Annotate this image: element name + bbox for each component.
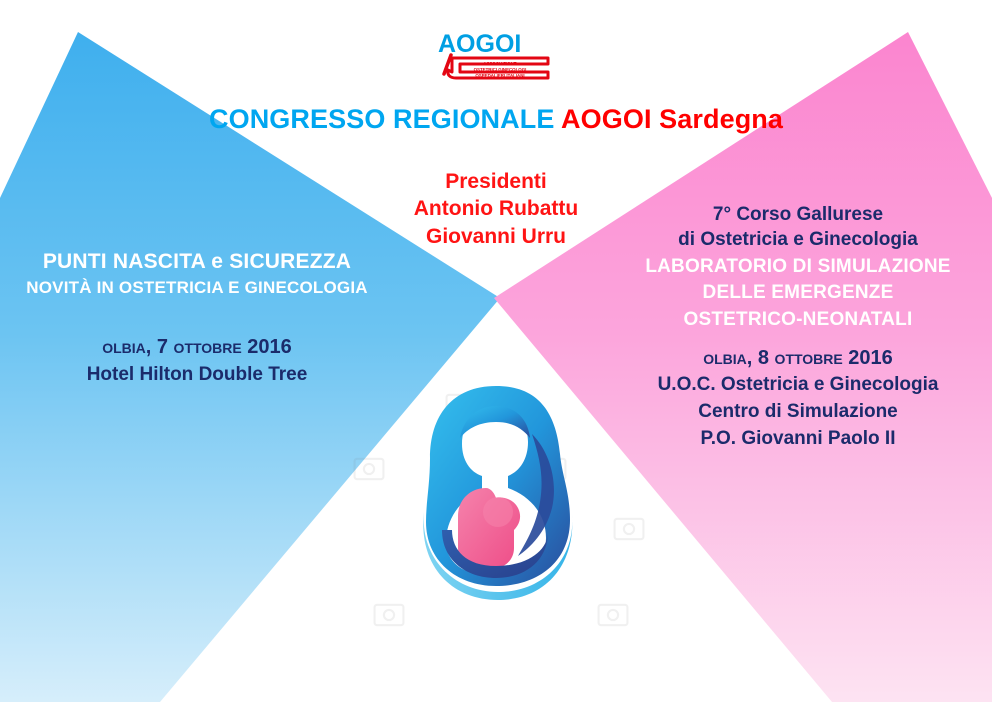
right-panel-heading-line2: di Ostetricia e Ginecologia xyxy=(604,227,992,252)
left-panel-title: PUNTI NASCITA e SICUREZZA xyxy=(8,250,386,275)
left-panel-headings: PUNTI NASCITA e SICUREZZA NOVITÀ IN OSTE… xyxy=(8,250,386,298)
left-panel-subtitle: NOVITÀ IN OSTETRICIA E GINECOLOGIA xyxy=(8,278,386,298)
logo-wordmark: AOGOI xyxy=(438,30,521,58)
left-panel-date: Olbia, 7 ottobre 2016 xyxy=(8,334,386,362)
title-part-congresso: CONGRESSO REGIONALE xyxy=(209,104,561,134)
logo-subtitle-line2: OSTETRICI GINECOLOGI xyxy=(474,67,527,72)
mother-and-child-icon xyxy=(390,372,606,604)
right-panel-emphasis-line1: LABORATORIO DI SIMULAZIONE xyxy=(604,254,992,280)
right-panel-headings: 7° Corso Gallurese di Ostetricia e Ginec… xyxy=(604,202,992,333)
page-title: CONGRESSO REGIONALE AOGOI Sardegna xyxy=(0,104,992,135)
right-panel-venue-line1: U.O.C. Ostetricia e Ginecologia xyxy=(604,372,992,399)
right-panel-emphasis-line2: DELLE EMERGENZE xyxy=(604,280,992,306)
presidents-heading: Presidenti xyxy=(0,168,992,195)
right-panel-details: Olbia, 8 ottobre 2016 U.O.C. Ostetricia … xyxy=(604,344,992,453)
left-panel-details: Olbia, 7 ottobre 2016 Hotel Hilton Doubl… xyxy=(8,334,386,388)
right-panel-emphasis-line3: OSTETRICO-NEONATALI xyxy=(604,307,992,333)
watermark-icon xyxy=(352,452,386,486)
watermark-icon xyxy=(612,512,646,546)
poster-canvas: AOGOI ASSOCIAZIONE OSTETRICI GINECOLOGI … xyxy=(0,0,992,702)
logo-subtitle-line1: ASSOCIAZIONE xyxy=(483,61,516,66)
right-panel-date: Olbia, 8 ottobre 2016 xyxy=(604,344,992,372)
title-part-aogoi-sardegna: AOGOI Sardegna xyxy=(561,104,783,134)
right-panel-heading-line1: 7° Corso Gallurese xyxy=(604,202,992,227)
aogoi-logo: AOGOI ASSOCIAZIONE OSTETRICI GINECOLOGI … xyxy=(430,28,562,86)
logo-subtitle-line3: OSPEDALIERI ITALIANI xyxy=(475,73,524,78)
baby-head-highlight xyxy=(483,497,513,527)
right-panel-venue-line2: Centro di Simulazione xyxy=(604,399,992,426)
right-panel-venue-line3: P.O. Giovanni Paolo II xyxy=(604,426,992,453)
left-panel-venue: Hotel Hilton Double Tree xyxy=(8,362,386,388)
